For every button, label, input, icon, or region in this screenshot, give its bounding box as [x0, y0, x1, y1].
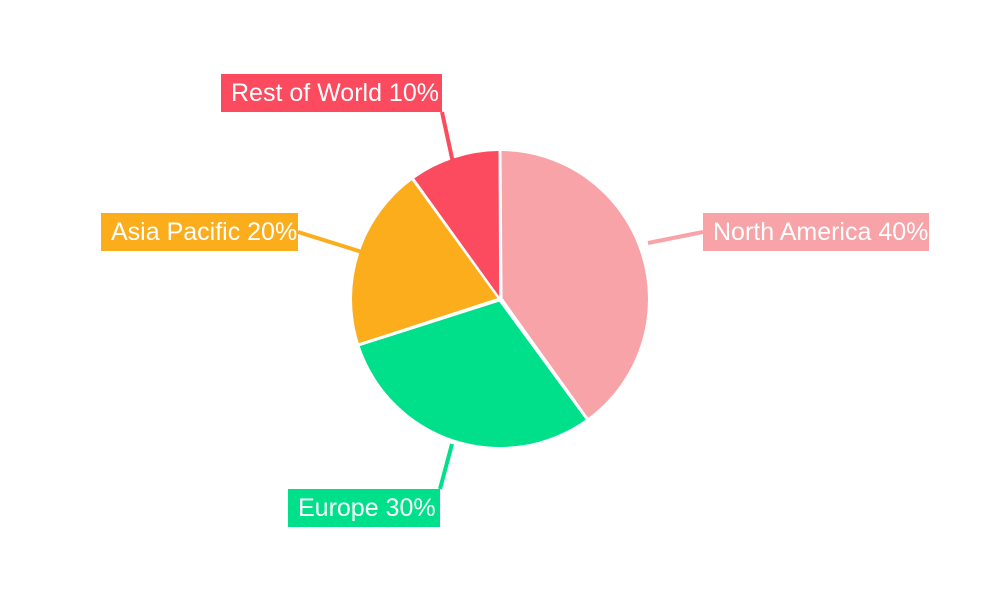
pie-label-asia-pacific[interactable]: Asia Pacific 20% [101, 213, 298, 251]
pie-label-rest-of-world[interactable]: Rest of World 10% [221, 74, 442, 112]
leader-line-north-america [648, 232, 703, 243]
pie-label-europe[interactable]: Europe 30% [288, 489, 440, 527]
pie-label-north-america[interactable]: North America 40% [703, 213, 929, 251]
pie-chart-figure: North America 40%Europe 30%Asia Pacific … [0, 0, 1000, 600]
leader-line-asia-pacific [298, 232, 362, 252]
pie-chart-canvas [0, 0, 1000, 600]
leader-line-europe [440, 444, 452, 489]
pie-slices [352, 151, 648, 447]
